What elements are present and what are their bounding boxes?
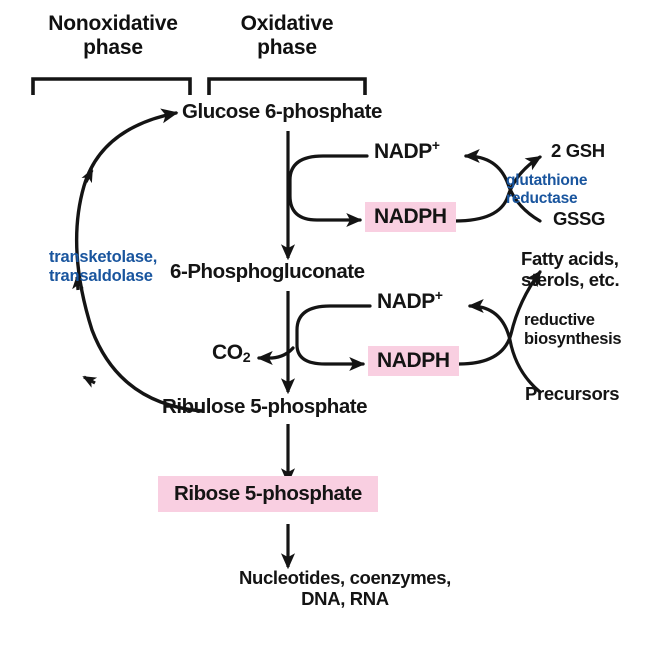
co2-subscript: 2 [243, 350, 251, 366]
nonoxidative-line1: Nonoxidative [30, 12, 196, 36]
final-products-line1: Nucleotides, coenzymes, [20, 568, 670, 589]
phase-label-oxidative: Oxidative phase [206, 12, 368, 59]
cofactor-nadph-bottom: NADPH [368, 346, 459, 376]
cofactor-nadp-plus-bottom: NADP+ [377, 290, 443, 314]
cofactor-nadph-top: NADPH [365, 202, 456, 232]
fatty-acids-line2: sterols, etc. [521, 270, 619, 291]
metabolite-ribose-5-phosphate-box: Ribose 5-phosphate [158, 483, 378, 506]
reductive-biosynthesis-line1: reductive [524, 311, 621, 330]
pathway-diagram: Nonoxidative phase Oxidative phase Gluco… [0, 0, 670, 654]
cofactor-nadph-top-container: NADPH [365, 205, 456, 229]
metabolite-6-phosphogluconate: 6-Phosphogluconate [170, 261, 365, 284]
final-products: Nucleotides, coenzymes, DNA, RNA [0, 568, 670, 609]
substrate-gssg: GSSG [553, 209, 605, 230]
arrow-co2-release [259, 348, 293, 358]
curve-nadp-plus-in-top [290, 156, 367, 220]
nadp-plus-bottom-text: NADP [377, 290, 435, 313]
enzyme-glutathione-reductase: glutathione reductase [506, 172, 587, 208]
product-2-gsh: 2 GSH [551, 141, 605, 162]
nadp-plus-top-text: NADP [374, 140, 432, 163]
transaldolase-line2: transaldolase [49, 267, 157, 286]
arc-direction-marker-upper [86, 170, 92, 182]
phase-label-nonoxidative: Nonoxidative phase [30, 12, 196, 59]
product-fatty-acids-sterols: Fatty acids, sterols, etc. [521, 249, 619, 290]
nonoxidative-phase-bracket [33, 79, 190, 95]
ribose-5-phosphate-label: Ribose 5-phosphate [158, 476, 378, 512]
transketolase-line1: transketolase, [49, 248, 157, 267]
nadp-plus-top-charge: + [432, 137, 440, 153]
process-reductive-biosynthesis: reductive biosynthesis [524, 311, 621, 350]
curve-nadp-plus-in-bottom [297, 306, 370, 364]
oxidative-line1: Oxidative [206, 12, 368, 36]
metabolite-ribulose-5-phosphate: Ribulose 5-phosphate [162, 396, 367, 419]
oxidative-phase-bracket [209, 79, 365, 95]
substrate-precursors: Precursors [525, 384, 619, 405]
metabolite-co2: CO2 [212, 341, 250, 365]
reductive-biosynthesis-line2: biosynthesis [524, 330, 621, 349]
enzyme-transketolase-transaldolase: transketolase, transaldolase [49, 248, 157, 286]
fatty-acids-line1: Fatty acids, [521, 249, 619, 270]
cofactor-nadph-bottom-container: NADPH [368, 349, 459, 373]
glutathione-reductase-line2: reductase [506, 190, 587, 208]
cofactor-nadp-plus-top: NADP+ [374, 140, 440, 164]
oxidative-line2: phase [206, 36, 368, 60]
glutathione-reductase-line1: glutathione [506, 172, 587, 190]
arc-direction-marker-lower [84, 377, 95, 383]
nadp-plus-bottom-charge: + [435, 287, 443, 303]
co2-text: CO [212, 341, 243, 364]
metabolite-glucose-6-phosphate: Glucose 6-phosphate [182, 101, 382, 124]
nonoxidative-line2: phase [30, 36, 196, 60]
final-products-line2: DNA, RNA [20, 589, 670, 610]
